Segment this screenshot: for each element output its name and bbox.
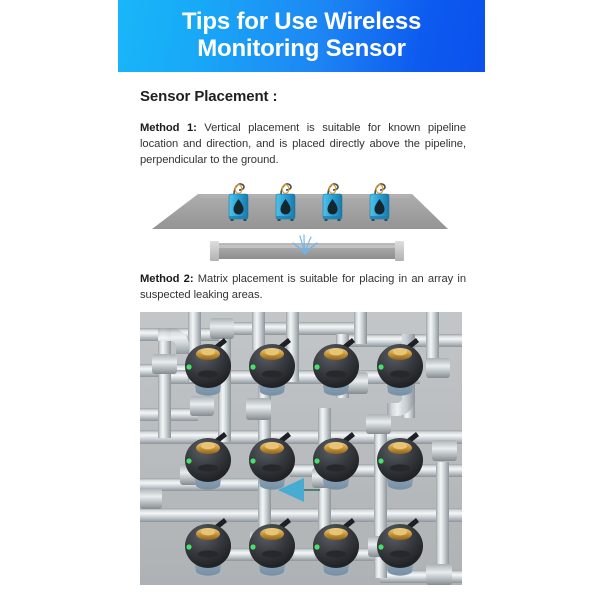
sensor-device [370,184,389,221]
figure-matrix-placement [140,312,462,585]
led-indicator [314,544,319,549]
led-indicator [314,364,319,369]
pipe-with-leak [210,235,404,261]
method-1-paragraph: Method 1: Vertical placement is suitable… [140,121,466,169]
pipe-cap-right [395,241,404,261]
method-2-label: Method 2: [140,273,194,285]
ground-plane [152,194,448,229]
led-indicator [378,544,383,549]
page-title: Tips for Use Wireless Monitoring Sensor [182,8,421,63]
section-heading: Sensor Placement : [140,88,466,105]
led-indicator [186,544,191,549]
figure-vertical-placement [140,176,466,268]
pipe-cap-left [210,241,219,261]
led-indicator [250,364,255,369]
led-indicator [186,458,191,463]
led-indicator [378,458,383,463]
led-indicator [250,544,255,549]
sensor-device [323,184,342,221]
figure-1-svg [140,176,466,268]
sensor-device [276,184,295,221]
method-1-label: Method 1: [140,122,197,134]
page-root: Tips for Use Wireless Monitoring Sensor … [0,0,600,600]
led-indicator [314,458,319,463]
method-2-section: Method 2: Matrix placement is suitable f… [140,272,466,304]
figure-2-svg [140,312,462,585]
header-banner: Tips for Use Wireless Monitoring Sensor [118,0,485,72]
method-2-paragraph: Method 2: Matrix placement is suitable f… [140,272,466,304]
sensor-placement-section: Sensor Placement : Method 1: Vertical pl… [140,88,466,169]
sensor-device [229,184,248,221]
led-indicator [250,458,255,463]
led-indicator [378,364,383,369]
led-indicator [186,364,191,369]
